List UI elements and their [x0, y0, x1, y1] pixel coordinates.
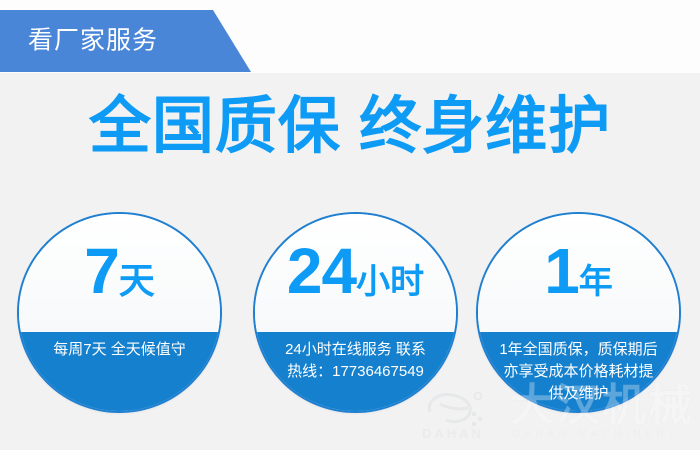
feature-circle-bottom-7-days: 每周7天 全天候值守 [19, 332, 220, 411]
feature-caption-7-days: 每周7天 全天候值守 [34, 339, 206, 361]
feature-caption-1-year: 1年全国质保，质保期后亦享受成本价格耗材提供及维护 [498, 339, 660, 405]
feature-circles-row: 7天 每周7天 全天候值守 24小时 24小时在线服务 联系热线：1773646… [0, 212, 700, 414]
feature-circle-bottom-24-hours: 24小时在线服务 联系热线：17736467549 [255, 332, 456, 411]
feature-circle-1-year: 1年 1年全国质保，质保期后亦享受成本价格耗材提供及维护 [476, 212, 681, 413]
feature-caption-24-hours: 24小时在线服务 联系热线：17736467549 [280, 339, 432, 383]
watermark-brand-en: DAHAN MACHINERY [512, 428, 679, 440]
feature-circle-top-24-hours: 24小时 [255, 214, 456, 332]
section-header-ribbon: 看厂家服务 [0, 10, 252, 72]
promo-banner-page: 看厂家服务 全国质保 终身维护 7天 每周7天 全天候值守 24小时 24小时在… [0, 0, 700, 450]
feature-circle-top-7-days: 7天 [19, 214, 220, 332]
feature-figure-24-hours: 24小时 [287, 239, 424, 307]
watermark-mark-text: DAHAN [422, 426, 484, 441]
feature-unit-7-days: 天 [119, 260, 155, 301]
feature-unit-24-hours: 小时 [356, 263, 424, 301]
feature-circle-bottom-1-year: 1年全国质保，质保期后亦享受成本价格耗材提供及维护 [478, 332, 679, 411]
section-header-label: 看厂家服务 [28, 29, 158, 54]
feature-figure-7-days: 7天 [84, 239, 155, 307]
feature-unit-1-year: 年 [579, 263, 613, 301]
feature-number-7-days: 7 [84, 235, 119, 307]
feature-figure-1-year: 1年 [544, 239, 613, 307]
feature-circle-7-days: 7天 每周7天 全天候值守 [17, 212, 222, 413]
feature-circle-top-1-year: 1年 [478, 214, 679, 332]
feature-number-24-hours: 24 [287, 235, 356, 307]
feature-circle-24-hours: 24小时 24小时在线服务 联系热线：17736467549 [253, 212, 458, 413]
feature-number-1-year: 1 [544, 235, 579, 307]
page-title: 全国质保 终身维护 [0, 96, 700, 158]
